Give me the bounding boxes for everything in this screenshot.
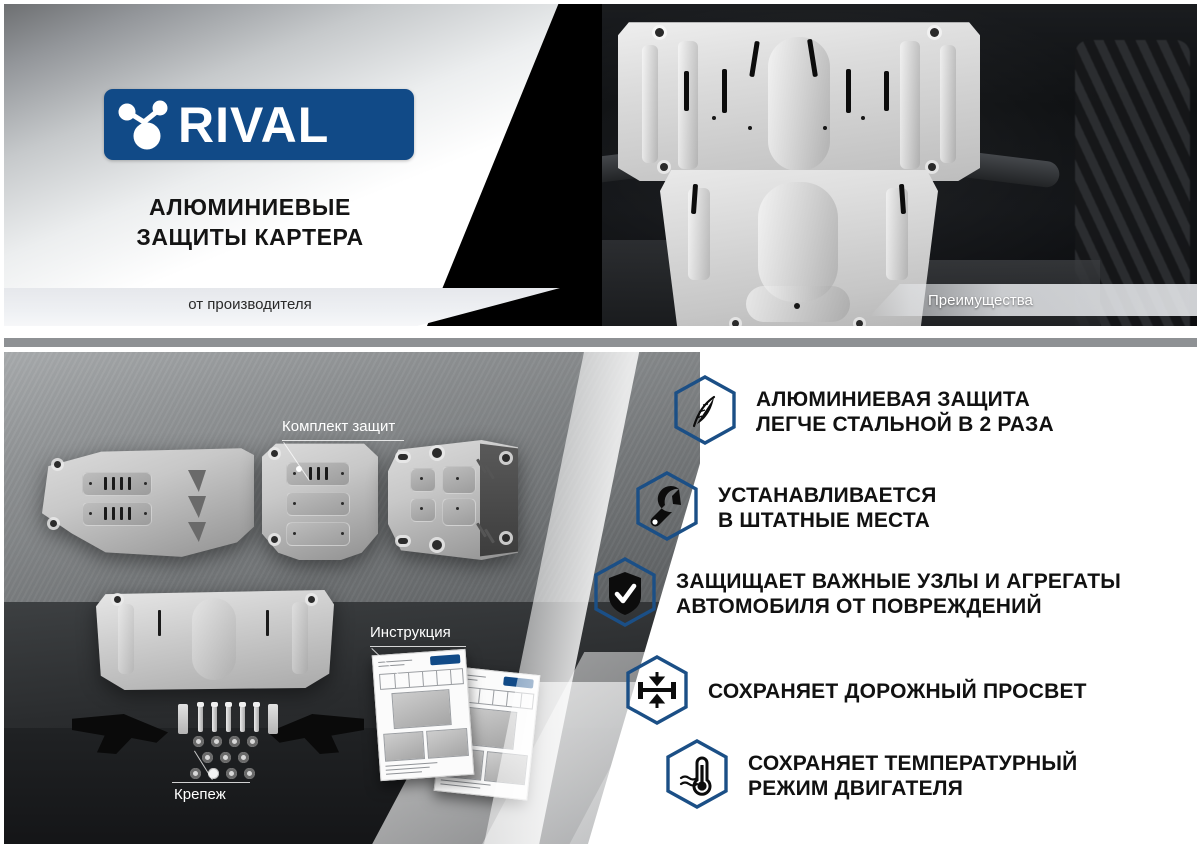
promo-banner: Преимущества RIVAL АЛЮМИНИЕВЫЕ ЗАЩИТЫ КА… bbox=[0, 0, 1200, 848]
installed-skid-plate-lower bbox=[660, 170, 938, 345]
molecule-icon bbox=[114, 95, 180, 155]
hero-badge-label: Преимущества bbox=[928, 292, 1033, 309]
divider-strip-mid bbox=[0, 338, 1200, 347]
feature-item-4: СОХРАНЯЕТ ДОРОЖНЫЙ ПРОСВЕТ bbox=[624, 654, 1174, 731]
installed-skid-plate-upper bbox=[618, 19, 980, 181]
page-subtitle: от производителя bbox=[0, 296, 500, 313]
metal-strap-left bbox=[178, 704, 188, 734]
feature-2-line2: В ШТАТНЫЕ МЕСТА bbox=[718, 509, 937, 534]
page-title-line1: АЛЮМИНИЕВЫЕ bbox=[0, 192, 500, 222]
page-title: АЛЮМИНИЕВЫЕ ЗАЩИТЫ КАРТЕРА bbox=[0, 192, 500, 253]
shield-check-icon bbox=[592, 556, 658, 633]
feature-item-2: УСТАНАВЛИВАЕТСЯ В ШТАТНЫЕ МЕСТА bbox=[634, 470, 1174, 547]
label-kit-underline bbox=[282, 440, 404, 441]
feature-item-1: АЛЮМИНИЕВАЯ ЗАЩИТА ЛЕГЧЕ СТАЛЬНОЙ В 2 РА… bbox=[672, 374, 1172, 451]
frame-top bbox=[0, 0, 1200, 4]
instruction-sheet-front bbox=[372, 649, 475, 781]
feature-5-line1: СОХРАНЯЕТ ТЕМПЕРАТУРНЫЙ bbox=[748, 752, 1077, 777]
frame-left bbox=[0, 0, 4, 848]
feature-1-line1: АЛЮМИНИЕВАЯ ЗАЩИТА bbox=[756, 388, 1054, 413]
feature-2-line1: УСТАНАВЛИВАЕТСЯ bbox=[718, 484, 937, 509]
label-kit-dot bbox=[296, 466, 302, 472]
feature-5-text: СОХРАНЯЕТ ТЕМПЕРАТУРНЫЙ РЕЖИМ ДВИГАТЕЛЯ bbox=[748, 752, 1077, 802]
feature-2-text: УСТАНАВЛИВАЕТСЯ В ШТАТНЫЕ МЕСТА bbox=[718, 484, 937, 534]
frame-bottom bbox=[0, 844, 1200, 848]
feature-3-line2: АВТОМОБИЛЯ ОТ ПОВРЕЖДЕНИЙ bbox=[676, 595, 1121, 620]
feature-1-text: АЛЮМИНИЕВАЯ ЗАЩИТА ЛЕГЧЕ СТАЛЬНОЙ В 2 РА… bbox=[756, 388, 1054, 438]
wrench-icon bbox=[634, 470, 700, 547]
rival-wordmark: RIVAL bbox=[178, 100, 329, 150]
feature-4-line1: СОХРАНЯЕТ ДОРОЖНЫЙ ПРОСВЕТ bbox=[708, 680, 1087, 705]
label-instruction: Инструкция bbox=[370, 624, 451, 641]
skid-plate-4 bbox=[96, 588, 334, 690]
feature-3-text: ЗАЩИЩАЕТ ВАЖНЫЕ УЗЛЫ И АГРЕГАТЫ АВТОМОБИ… bbox=[676, 570, 1121, 620]
skid-plate-3 bbox=[388, 440, 518, 560]
skid-plate-2 bbox=[262, 440, 378, 560]
label-hardware-overline bbox=[172, 782, 250, 783]
feature-item-5: СОХРАНЯЕТ ТЕМПЕРАТУРНЫЙ РЕЖИМ ДВИГАТЕЛЯ bbox=[664, 738, 1174, 815]
hero-badge: Преимущества bbox=[870, 284, 1200, 316]
label-hardware: Крепеж bbox=[174, 786, 226, 803]
feature-5-line2: РЕЖИМ ДВИГАТЕЛЯ bbox=[748, 777, 1077, 802]
ground-clearance-icon bbox=[624, 654, 690, 731]
label-instruction-underline bbox=[370, 646, 466, 647]
thermometer-icon bbox=[664, 738, 730, 815]
skid-plate-1 bbox=[42, 446, 254, 558]
divider-strip-top bbox=[0, 326, 1200, 338]
page-title-line2: ЗАЩИТЫ КАРТЕРА bbox=[0, 222, 500, 252]
feature-4-text: СОХРАНЯЕТ ДОРОЖНЫЙ ПРОСВЕТ bbox=[708, 680, 1087, 705]
metal-strap-right bbox=[268, 704, 278, 734]
feature-item-3: ЗАЩИЩАЕТ ВАЖНЫЕ УЗЛЫ И АГРЕГАТЫ АВТОМОБИ… bbox=[592, 556, 1172, 633]
feature-3-line1: ЗАЩИЩАЕТ ВАЖНЫЕ УЗЛЫ И АГРЕГАТЫ bbox=[676, 570, 1121, 595]
rival-logo: RIVAL bbox=[104, 89, 414, 160]
feature-1-line2: ЛЕГЧЕ СТАЛЬНОЙ В 2 РАЗА bbox=[756, 413, 1054, 438]
feather-icon bbox=[672, 374, 738, 451]
label-kit: Комплект защит bbox=[282, 418, 395, 435]
